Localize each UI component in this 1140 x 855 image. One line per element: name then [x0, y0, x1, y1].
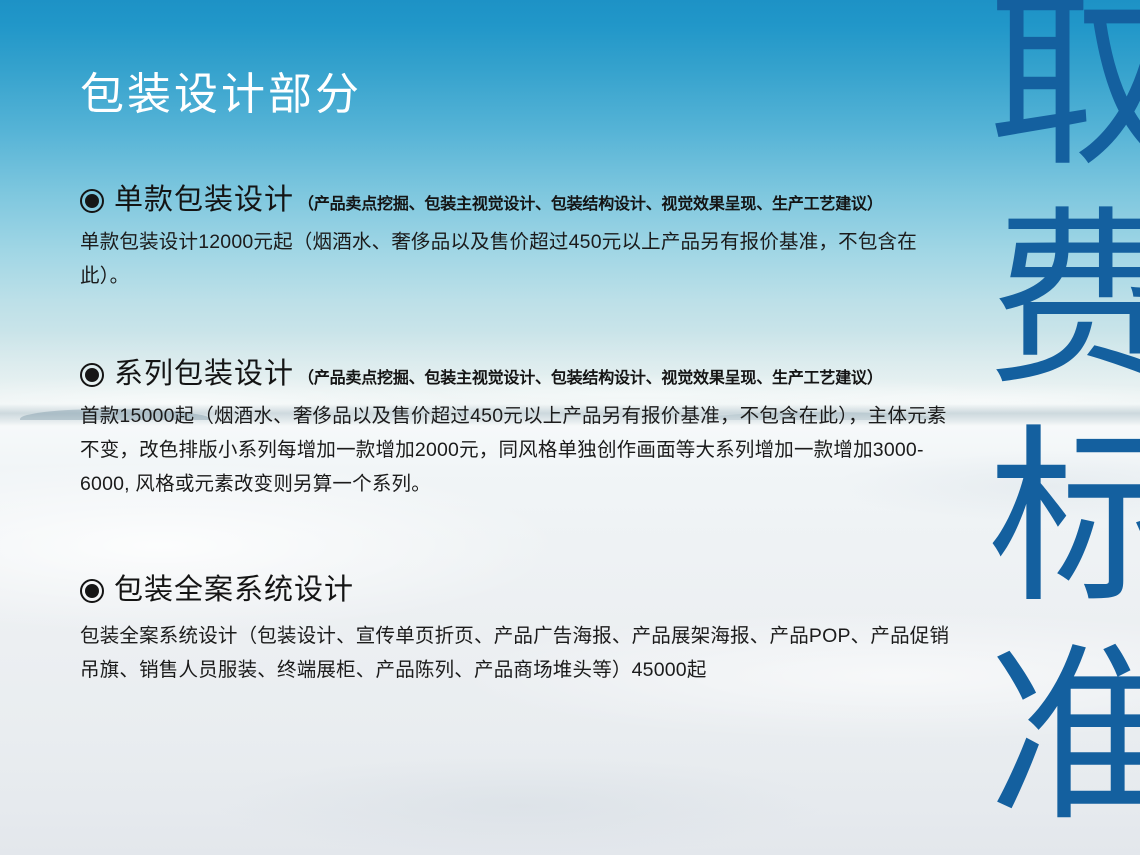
section-heading: 包装全案系统设计 — [80, 573, 955, 607]
slide-content: 包装设计部分 单款包装设计 （产品卖点挖掘、包装主视觉设计、包装结构设计、视觉效… — [0, 0, 990, 855]
section-subtitle: （产品卖点挖掘、包装主视觉设计、包装结构设计、视觉效果呈现、生产工艺建议） — [298, 195, 883, 215]
section-title: 单款包装设计 — [114, 183, 294, 217]
section-body-text: 单款包装设计12000元起（烟酒水、奢侈品以及售价超过450元以上产品另有报价基… — [80, 225, 955, 293]
section-body-text: 包装全案系统设计（包装设计、宣传单页折页、产品广告海报、产品展架海报、产品POP… — [80, 619, 955, 687]
page-title: 包装设计部分 — [80, 68, 362, 122]
section-title: 系列包装设计 — [114, 357, 294, 391]
filled-ring-bullet-icon — [80, 189, 104, 213]
section-full-system-package-design: 包装全案系统设计 包装全案系统设计（包装设计、宣传单页折页、产品广告海报、产品展… — [80, 573, 955, 687]
section-title: 包装全案系统设计 — [114, 573, 354, 607]
filled-ring-bullet-icon — [80, 363, 104, 387]
section-single-package-design: 单款包装设计 （产品卖点挖掘、包装主视觉设计、包装结构设计、视觉效果呈现、生产工… — [80, 183, 955, 293]
filled-ring-bullet-icon — [80, 579, 104, 603]
section-heading: 单款包装设计 （产品卖点挖掘、包装主视觉设计、包装结构设计、视觉效果呈现、生产工… — [80, 183, 955, 217]
presentation-slide: 取 费 标 准 包装设计部分 单款包装设计 （产品卖点挖掘、包装主视觉设计、包装… — [0, 0, 1140, 855]
section-heading: 系列包装设计 （产品卖点挖掘、包装主视觉设计、包装结构设计、视觉效果呈现、生产工… — [80, 357, 955, 391]
section-body-text: 首款15000起（烟酒水、奢侈品以及售价超过450元以上产品另有报价基准，不包含… — [80, 399, 955, 501]
section-series-package-design: 系列包装设计 （产品卖点挖掘、包装主视觉设计、包装结构设计、视觉效果呈现、生产工… — [80, 357, 955, 501]
section-subtitle: （产品卖点挖掘、包装主视觉设计、包装结构设计、视觉效果呈现、生产工艺建议） — [298, 369, 883, 389]
